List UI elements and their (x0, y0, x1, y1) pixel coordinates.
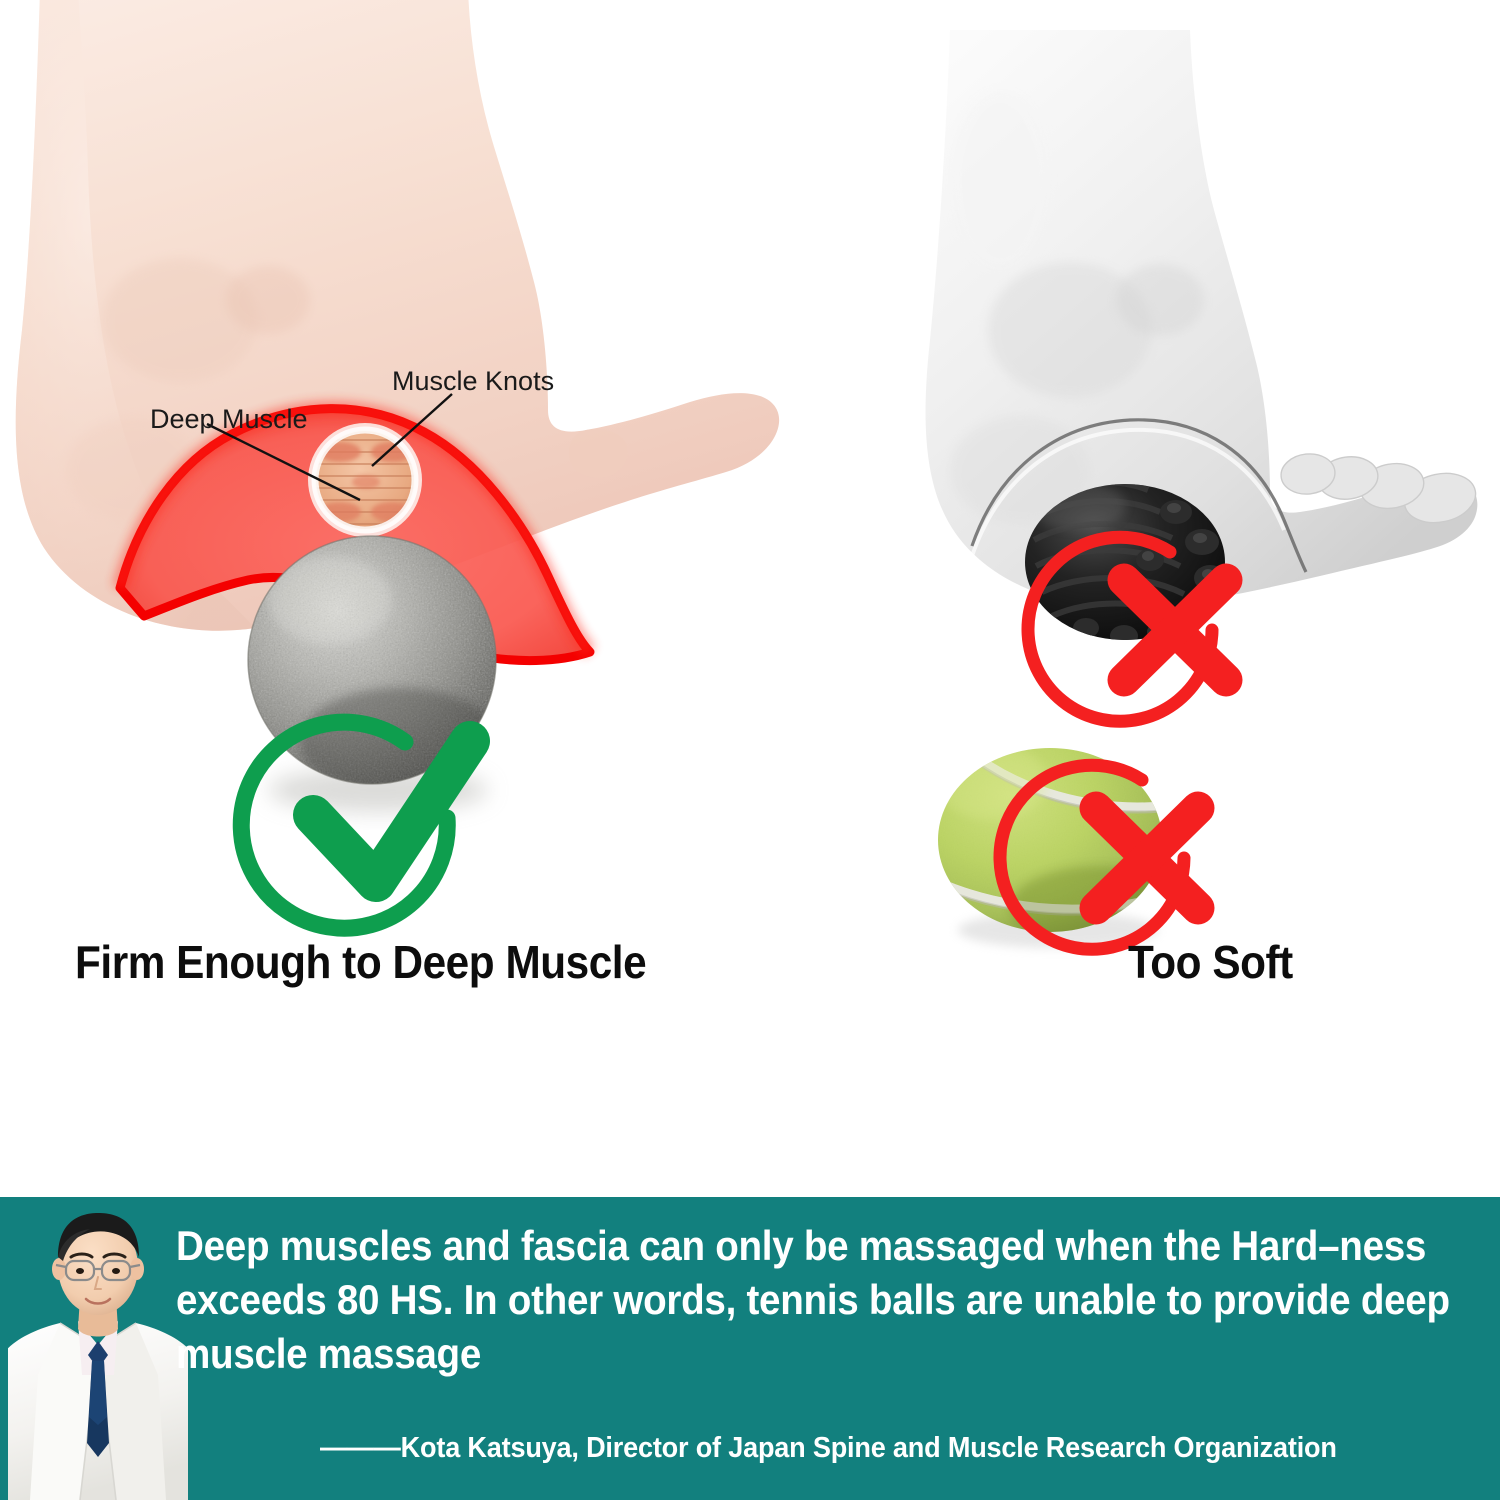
caption-firm-enough: Firm Enough to Deep Muscle (75, 935, 646, 989)
doctor-portrait (8, 1205, 188, 1500)
panel-too-soft (880, 0, 1500, 1197)
label-muscle-knots: Muscle Knots (392, 366, 554, 397)
right-illustration (880, 0, 1500, 1197)
panel-firm-ball: Deep Muscle Muscle Knots (0, 0, 880, 1197)
infographic-page: Deep Muscle Muscle Knots Firm Enough to … (0, 0, 1500, 1500)
quote-attribution: ———Kota Katsuya, Director of Japan Spine… (320, 1432, 1337, 1465)
doctor-portrait-illustration (8, 1205, 188, 1500)
caption-too-soft: Too Soft (1128, 935, 1293, 989)
left-illustration (0, 0, 880, 1197)
quote-text: Deep muscles and fascia can only be mass… (176, 1219, 1487, 1381)
quote-block: Deep muscles and fascia can only be mass… (176, 1219, 1488, 1381)
muscle-knot-inset (308, 423, 422, 537)
label-deep-muscle: Deep Muscle (150, 404, 308, 435)
